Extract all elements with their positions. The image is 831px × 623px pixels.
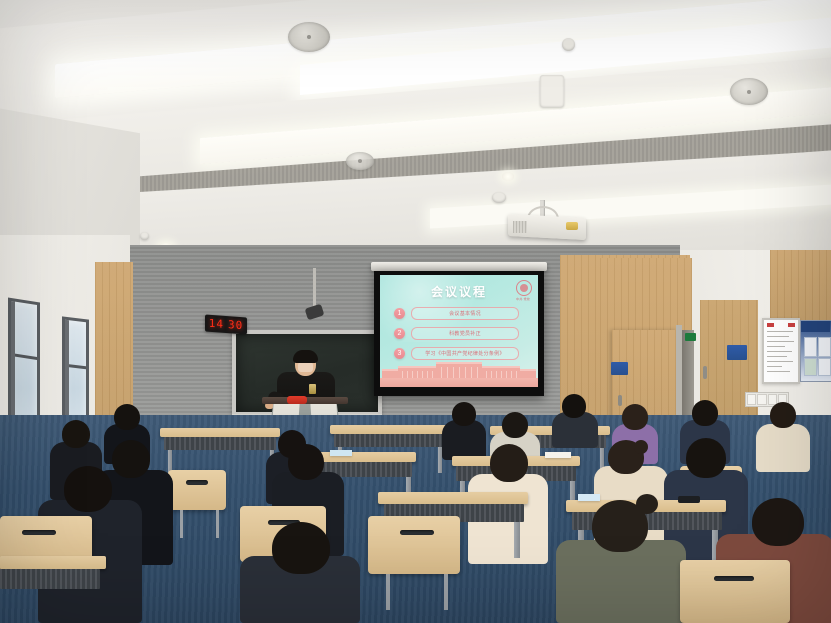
agenda-item: 1 会议基本情况 [394, 307, 519, 320]
wall-digital-clock: 14 30 [205, 315, 247, 335]
presentation-slide: 会议议程 中共·党校 1 会议基本情况 2 科教党员补正 3 学习《中国共产党纪… [380, 275, 538, 387]
organization-emblem-caption: 中共·党校 [510, 297, 536, 301]
ceiling-sensor-box [540, 75, 564, 107]
agenda-item: 2 科教党员补正 [394, 327, 519, 340]
smoke-detector-icon [140, 232, 149, 240]
tablet-device[interactable] [578, 494, 600, 501]
meeting-room-photo: 14 30 会议议程 中共·党校 1 会议基本情况 2 科教党员补正 3 学习《… [0, 0, 831, 623]
ceiling [0, 0, 831, 270]
door-handle[interactable] [618, 395, 622, 406]
paper-document [330, 450, 352, 456]
door-handle[interactable] [703, 366, 707, 379]
projector-lens [566, 222, 578, 230]
smoke-detector-icon [562, 38, 575, 51]
info-board-header [801, 321, 830, 332]
ceiling-microphone-boom [313, 268, 316, 310]
agenda-label: 学习《中国共产党纪律处分条例》 [411, 347, 519, 360]
smoke-detector-icon [492, 192, 506, 203]
framed-white-notice [762, 318, 800, 384]
smartphone[interactable] [678, 496, 700, 503]
clock-hours: 14 [209, 318, 224, 330]
organization-emblem-icon [516, 280, 532, 296]
ceiling-speaker-icon [346, 152, 374, 170]
presenter-chest-emblem [309, 384, 316, 394]
paper-document [545, 452, 571, 458]
agenda-label: 会议基本情况 [411, 307, 519, 320]
blue-room-sign [727, 345, 747, 360]
agenda-number: 3 [394, 348, 405, 359]
agenda-number: 1 [394, 308, 405, 319]
slide-building-illustration [380, 361, 538, 387]
ceiling-speaker-icon [288, 22, 330, 52]
agenda-number: 2 [394, 328, 405, 339]
blue-room-sign [611, 362, 628, 375]
podium-red-object [287, 396, 307, 404]
agenda-label: 科教党员补正 [411, 327, 519, 340]
wood-wall-panel [770, 250, 831, 320]
presenter-face [298, 362, 313, 372]
exit-sign-icon [685, 333, 696, 341]
projector-vent [513, 221, 527, 233]
clock-minutes: 30 [228, 319, 243, 331]
recessed-downlight-icon [502, 172, 514, 181]
projection-screen-case [371, 262, 547, 271]
ceiling-speaker-icon [730, 78, 768, 105]
presenter-hair [293, 350, 318, 363]
agenda-item: 3 学习《中国共产党纪律处分条例》 [394, 347, 519, 360]
